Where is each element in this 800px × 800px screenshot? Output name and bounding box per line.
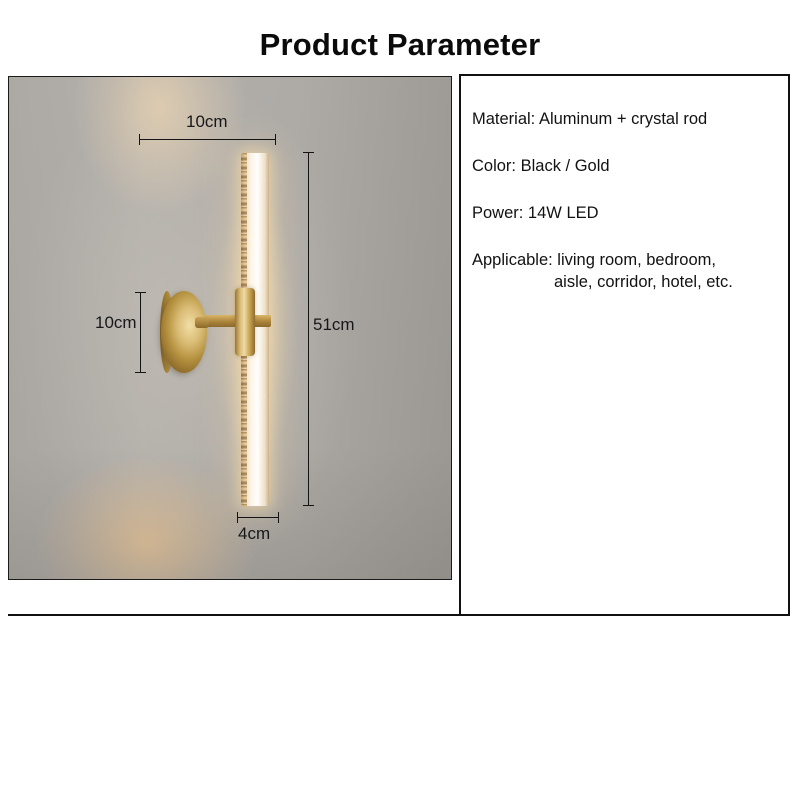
spec-material: Material: Aluminum + crystal rod [472, 108, 784, 130]
wall-mount-plate [161, 291, 207, 373]
spec-applicable-line1: Applicable: living room, bedroom, [472, 251, 716, 269]
dimension-label-plate-diameter: 10cm [95, 313, 137, 333]
dimension-tick-plate-top [135, 292, 146, 293]
page-title: Product Parameter [0, 26, 800, 64]
dimension-tick-height-top [303, 152, 314, 153]
spec-power: Power: 14W LED [472, 202, 784, 224]
dimension-line-plate-diameter [140, 292, 141, 373]
wall-shade-bottom [9, 448, 451, 579]
dimension-tick-height-bottom [303, 505, 314, 506]
dimension-label-width-top: 10cm [186, 112, 228, 132]
spec-color: Color: Black / Gold [472, 155, 784, 177]
spec-applicable-line2: aisle, corridor, hotel, etc. [472, 271, 784, 293]
dimension-tick-width-top-right [275, 134, 276, 145]
dimension-label-rod-width: 4cm [238, 524, 270, 544]
spec-applicable: Applicable: living room, bedroom, aisle,… [472, 249, 784, 293]
panel-divider [459, 75, 461, 615]
wall-lamp-product-photo [8, 76, 452, 580]
dimension-tick-plate-bottom [135, 372, 146, 373]
dimension-tick-width-top-left [139, 134, 140, 145]
dimension-tick-rod-right [278, 512, 279, 523]
right-panel-edge-rule [788, 74, 790, 615]
right-panel-top-rule [459, 74, 790, 76]
frame-bottom-rule [8, 614, 790, 616]
spec-list: Material: Aluminum + crystal rod Color: … [472, 108, 784, 318]
wall-plate-hub [195, 317, 209, 328]
dimension-line-total-height [308, 152, 309, 505]
product-parameter-page: Product Parameter 10cm 10cm 51cm 4cm [0, 0, 800, 800]
dimension-tick-rod-left [237, 512, 238, 523]
dimension-label-total-height: 51cm [313, 315, 355, 335]
lamp-collar [235, 288, 255, 356]
dimension-line-rod-width [237, 517, 279, 518]
dimension-line-width-top [139, 139, 276, 140]
